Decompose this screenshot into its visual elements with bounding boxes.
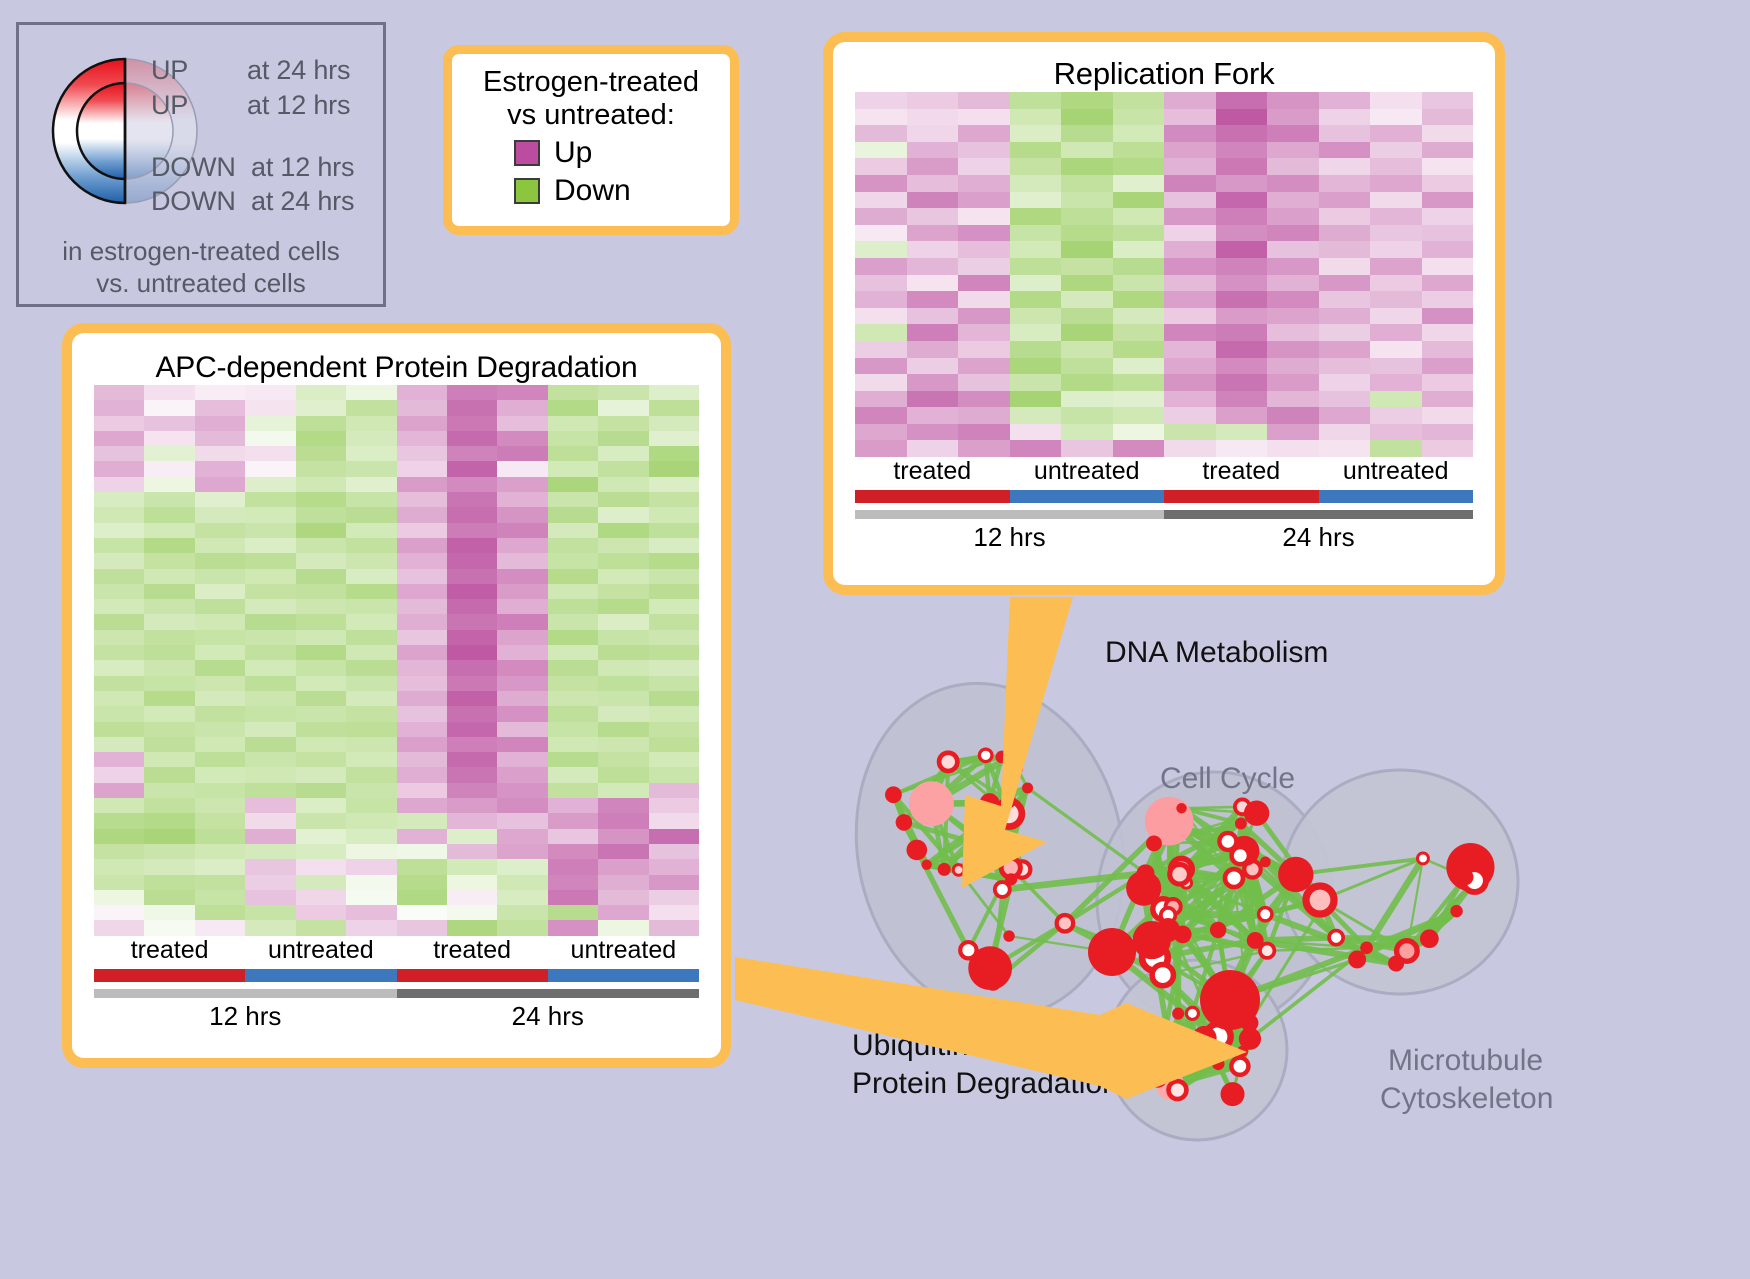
heatmap-cell [346,630,396,645]
heatmap-cell [94,477,144,492]
heatmap-cell [649,905,699,920]
heatmap-cell [245,691,295,706]
heatmap-cell [195,569,245,584]
axis-timepoint-segment [94,989,397,998]
network-node[interactable] [1183,1036,1193,1046]
network-node[interactable] [1146,835,1162,851]
heatmap-cell [958,308,1010,325]
heatmap-cell [1267,407,1319,424]
network-node[interactable] [1186,1007,1198,1019]
heatmap-cell [855,175,907,192]
network-node[interactable] [1247,932,1264,949]
network-node[interactable] [1457,869,1473,885]
heatmap-cell [1422,142,1474,159]
heatmap-cell [958,407,1010,424]
heatmap-cell [397,477,447,492]
heatmap-cell [598,752,648,767]
heatmap-cell [296,905,346,920]
network-node[interactable] [985,974,1002,991]
heatmap-cell [397,645,447,660]
network-node[interactable] [1388,955,1404,971]
heatmap-cell [144,507,194,522]
heatmap-cell [296,523,346,538]
heatmap-cell [397,538,447,553]
network-node[interactable] [1170,864,1190,884]
network-node[interactable] [1022,782,1033,793]
heatmap-cell [397,599,447,614]
heatmap-cell [447,905,497,920]
heatmap-cell [94,523,144,538]
heatmap-cell [245,737,295,752]
heatmap-cell [1113,407,1165,424]
axis-treatment-label: treated [1164,457,1319,486]
network-node[interactable] [1200,970,1260,1030]
network-node[interactable] [1003,930,1014,941]
axis-treatment-segment [245,969,396,982]
heatmap-cell [1061,407,1113,424]
heatmap-cell [907,424,959,441]
network-node[interactable] [1235,818,1247,830]
heatmap-cell [1319,308,1371,325]
heatmap-cell [598,599,648,614]
heatmap-cell [1319,109,1371,126]
heatmap-cell [1010,258,1062,275]
heatmap-cell [346,523,396,538]
heatmap-cell [144,691,194,706]
heatmap-cell [296,477,346,492]
heatmap-cell [94,767,144,782]
heatmap-cell [548,813,598,828]
heatmap-cell [958,175,1010,192]
heatmap-cell [447,767,497,782]
network-node[interactable] [1329,931,1343,945]
heatmap-cell [94,875,144,890]
heatmap-cell [1061,158,1113,175]
heatmap-cell [598,461,648,476]
heatmap-cell [397,431,447,446]
heatmap-cell [855,142,907,159]
heatmap-cell [598,492,648,507]
heatmap-cell [958,258,1010,275]
heatmap-cell [497,905,547,920]
heatmap-cell [447,844,497,859]
heatmap-cell [1319,324,1371,341]
heatmap-cell [907,92,959,109]
heatmap-cell [1422,308,1474,325]
network-node[interactable] [1156,918,1180,942]
heatmap-cell [1164,440,1216,457]
heatmap-cell [195,676,245,691]
heatmap-cell [907,158,959,175]
heatmap-cell [855,358,907,375]
network-node[interactable] [1231,1058,1248,1075]
panel-title-replication-fork: Replication Fork [833,42,1495,92]
heatmap-cell [144,446,194,461]
network-node[interactable] [1176,803,1186,813]
heatmap-cell [1422,358,1474,375]
network-node[interactable] [921,860,931,870]
heatmap-cell [907,324,959,341]
heatmap-cell [649,767,699,782]
heatmap-cell [958,225,1010,242]
heatmap-cell [195,553,245,568]
heatmap-cell [1010,109,1062,126]
heatmap-cell [497,737,547,752]
axis-timepoint-label: 12 hrs [94,1001,397,1032]
network-node[interactable] [1278,857,1313,892]
heatmap-cell [346,706,396,721]
heatmap-cell [548,676,598,691]
heatmap-cell [497,538,547,553]
heatmap-cell [548,660,598,675]
heatmap-cell [144,737,194,752]
heatmap-cell [195,691,245,706]
heatmap-cell [346,905,396,920]
axis-timepoint-label: 12 hrs [855,522,1164,553]
heatmap-cell [1267,192,1319,209]
heatmap-cell [958,291,1010,308]
heatmap-cell [94,905,144,920]
heatmap-cell [296,920,346,935]
network-node[interactable] [1221,1082,1245,1106]
network-node[interactable] [1212,1058,1224,1070]
heatmap-cell [397,813,447,828]
heatmap-cell [245,905,295,920]
heatmap-cell [649,722,699,737]
heatmap-cell [598,416,648,431]
heatmap-cell [548,569,598,584]
network-node[interactable] [1210,922,1226,938]
heatmap-cell [447,507,497,522]
heatmap-cell [855,208,907,225]
heatmap-cell [855,407,907,424]
heatmap-cell [548,691,598,706]
heatmap-cell [1216,358,1268,375]
heatmap-cell [296,614,346,629]
heatmap-cell [296,691,346,706]
axis-timepoint-colorbar [855,510,1473,519]
heatmap-cell [1422,275,1474,292]
heatmap-cell [1164,374,1216,391]
heatmap-cell [94,920,144,935]
network-node[interactable] [1192,1026,1217,1051]
network-node[interactable] [953,865,964,876]
heatmap-cell [245,844,295,859]
heatmap-cell [296,783,346,798]
heatmap-cell [94,492,144,507]
heatmap-cell [195,584,245,599]
ring-legend-time-2: at 12 hrs [251,152,354,183]
heatmap-cell [195,599,245,614]
heatmap-cell [144,798,194,813]
heatmap-cell [195,844,245,859]
axis-treatment-label: untreated [245,936,396,965]
network-node[interactable] [1244,800,1269,825]
heatmap-cell [447,538,497,553]
axis-treatment-segment [1319,490,1474,503]
heatmap-cell [649,584,699,599]
heatmap-cell [855,192,907,209]
network-node[interactable] [979,749,992,762]
heatmap-cell [397,767,447,782]
heatmap-cell [296,599,346,614]
heatmap-cell [144,905,194,920]
heatmap-cell [397,859,447,874]
heatmap-cell [195,737,245,752]
heatmap-cell [1267,308,1319,325]
network-node[interactable] [960,942,976,958]
network-node[interactable] [1260,856,1271,867]
heatmap-apc-degradation [94,385,699,936]
heatmap-cell [548,431,598,446]
heatmap-cell [598,722,648,737]
heatmap-cell [548,737,598,752]
axis-treatment-labels: treateduntreatedtreateduntreated [855,457,1473,486]
heatmap-cell [195,875,245,890]
heatmap-cell [855,158,907,175]
heatmap-cell [447,523,497,538]
heatmap-cell [1061,291,1113,308]
heatmap-cell [958,158,1010,175]
heatmap-cell [1216,308,1268,325]
heatmap-cell [598,400,648,415]
sample-axis-apc: treateduntreatedtreateduntreated 12 hrs2… [94,936,699,1032]
heatmap-cell [855,324,907,341]
network-node[interactable] [1225,869,1243,887]
heatmap-cell [397,584,447,599]
heatmap-cell [397,569,447,584]
heatmap-cell [548,523,598,538]
heatmap-cell [245,920,295,935]
heatmap-cell [144,630,194,645]
heatmap-cell [855,291,907,308]
heatmap-cell [907,374,959,391]
network-node[interactable] [1189,1054,1201,1066]
figure-canvas: UP at 24 hrs UP at 12 hrs DOWN at 12 hrs… [0,0,1750,1279]
network-node[interactable] [938,863,951,876]
ring-legend-note-line2: vs. untreated cells [19,269,383,298]
heatmap-cell [1113,440,1165,457]
heatmap-cell [598,676,648,691]
heatmap-cell [346,569,396,584]
heatmap-cell [1370,407,1422,424]
network-node[interactable] [1420,929,1439,948]
heatmap-cell [548,461,598,476]
heatmap-cell [1010,407,1062,424]
heatmap-cell [195,645,245,660]
heatmap-cell [346,477,396,492]
heatmap-cell [649,798,699,813]
heatmap-cell [94,553,144,568]
heatmap-cell [346,645,396,660]
heatmap-cell [649,523,699,538]
heatmap-cell [1370,208,1422,225]
heatmap-cell [548,614,598,629]
heatmap-cell [1422,225,1474,242]
network-node[interactable] [1239,1028,1261,1050]
network-node[interactable] [909,781,954,826]
heatmap-cell [649,706,699,721]
heatmap-cell [1113,175,1165,192]
heatmap-cell [346,859,396,874]
network-node[interactable] [885,786,902,803]
heatmap-cell [1113,374,1165,391]
heatmap-cell [855,92,907,109]
heatmap-cell [497,477,547,492]
heatmap-cell [958,440,1010,457]
heatmap-cell [1164,92,1216,109]
heatmap-cell [497,890,547,905]
heatmap-cell [1216,324,1268,341]
heatmap-cell [1216,175,1268,192]
heatmap-cell [1164,142,1216,159]
pathway-network-graph: DNA MetabolismCell CycleMicrotubuleCytos… [760,600,1750,1279]
heatmap-cell [447,660,497,675]
heatmap-cell [1113,291,1165,308]
heatmap-cell [245,767,295,782]
heatmap-cell [195,461,245,476]
heatmap-cell [144,920,194,935]
heatmap-cell [1164,324,1216,341]
network-node[interactable] [1006,761,1021,776]
heatmap-cell [94,645,144,660]
network-node[interactable] [906,840,927,861]
heatmap-cell [447,691,497,706]
heatmap-cell [649,446,699,461]
heatmap-cell [598,385,648,400]
heatmap-cell [1164,258,1216,275]
heatmap-cell [397,783,447,798]
heatmap-cell [447,477,497,492]
cluster-label: Protein Degradation [852,1067,1119,1100]
heatmap-cell [497,875,547,890]
heatmap-cell [144,645,194,660]
network-node[interactable] [1172,1008,1184,1020]
network-node[interactable] [1306,886,1334,914]
heatmap-cell [195,385,245,400]
heatmap-cell [296,645,346,660]
heatmap-cell [649,844,699,859]
heatmap-cell [296,584,346,599]
network-node[interactable] [1417,853,1428,864]
heatmap-cell [245,859,295,874]
heatmap-cell [296,813,346,828]
network-node[interactable] [1348,950,1366,968]
heatmap-cell [649,553,699,568]
heatmap-cell [346,461,396,476]
heatmap-cell [346,890,396,905]
heatmap-cell [497,722,547,737]
network-node[interactable] [1004,796,1014,806]
network-node[interactable] [939,753,957,771]
heatmap-cell [548,477,598,492]
heatmap-cell [1370,258,1422,275]
heatmap-cell [1267,275,1319,292]
heatmap-cell [649,599,699,614]
network-node[interactable] [983,840,999,856]
heatmap-cell [296,416,346,431]
heatmap-cell [1267,175,1319,192]
network-node[interactable] [1232,847,1249,864]
network-node[interactable] [1260,944,1274,958]
heatmap-cell [397,691,447,706]
heatmap-cell [1267,225,1319,242]
heatmap-cell [195,859,245,874]
heatmap-cell [94,722,144,737]
heatmap-cell [598,920,648,935]
heatmap-cell [1267,341,1319,358]
heatmap-cell [1113,158,1165,175]
updown-legend-panel: Estrogen-treated vs untreated: Up Down [443,45,739,235]
heatmap-cell [1010,158,1062,175]
network-node[interactable] [995,882,1010,897]
heatmap-cell [1164,308,1216,325]
heatmap-cell [195,523,245,538]
heatmap-cell [598,477,648,492]
heatmap-cell [649,890,699,905]
network-node[interactable] [1152,964,1173,985]
network-node[interactable] [1057,915,1074,932]
heatmap-cell [598,584,648,599]
heatmap-cell [346,737,396,752]
heatmap-cell [1113,341,1165,358]
heatmap-cell [548,584,598,599]
network-node[interactable] [1169,1081,1187,1099]
heatmap-cell [1319,92,1371,109]
heatmap-cell [397,722,447,737]
heatmap-cell [907,225,959,242]
cluster-label: Cell Cycle [1160,762,1295,795]
heatmap-cell [346,844,396,859]
heatmap-cell [1010,374,1062,391]
network-node[interactable] [896,814,913,831]
heatmap-cell [598,569,648,584]
heatmap-cell [144,477,194,492]
heatmap-cell [1164,391,1216,408]
heatmap-cell [1370,324,1422,341]
heatmap-cell [144,431,194,446]
heatmap-cell [598,645,648,660]
heatmap-cell [245,706,295,721]
heatmap-cell [497,844,547,859]
heatmap-cell [907,341,959,358]
heatmap-cell [497,416,547,431]
heatmap-cell [245,875,295,890]
heatmap-cell [397,446,447,461]
network-node[interactable] [1088,928,1136,976]
heatmap-cell [1010,175,1062,192]
heatmap-cell [245,660,295,675]
heatmap-cell [497,446,547,461]
heatmap-cell [144,783,194,798]
heatmap-cell [907,258,959,275]
network-node[interactable] [1259,908,1272,921]
heatmap-cell [1319,225,1371,242]
heatmap-cell [245,798,295,813]
heatmap-cell [447,890,497,905]
heatmap-cell [1061,424,1113,441]
panel-replication-fork: Replication Fork treateduntreatedtreated… [823,32,1505,595]
heatmap-cell [1061,125,1113,142]
heatmap-cell [598,737,648,752]
heatmap-cell [144,569,194,584]
heatmap-cell [296,446,346,461]
heatmap-cell [1164,241,1216,258]
network-node[interactable] [1450,905,1462,917]
heatmap-cell [346,752,396,767]
heatmap-cell [195,890,245,905]
network-node[interactable] [1149,1069,1166,1086]
